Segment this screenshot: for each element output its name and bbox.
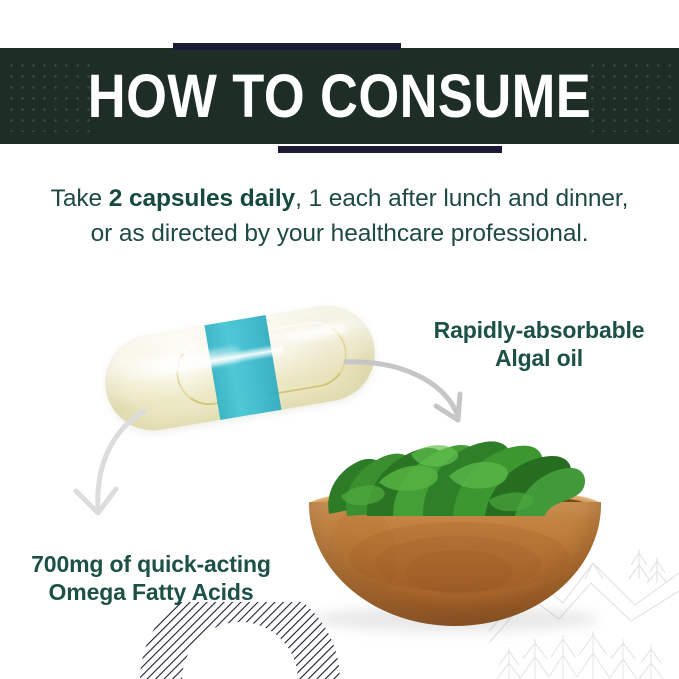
callout-algal-line-2: Algal oil: [408, 344, 670, 372]
capsule-illustration: [96, 282, 384, 448]
intro-suffix: , 1 each after lunch and dinner,: [295, 185, 628, 212]
header-accent-bar-bottom: [278, 146, 502, 153]
seaweed-leaves: [319, 432, 591, 518]
callout-algal-oil: Rapidly-absorbable Algal oil: [408, 316, 670, 372]
callout-omega-line-1: 700mg of quick-acting: [6, 550, 296, 578]
dosage-instructions: Take 2 capsules daily, 1 each after lunc…: [30, 182, 649, 252]
intro-highlight: 2 capsules daily: [109, 185, 295, 212]
callout-algal-line-1: Rapidly-absorbable: [408, 316, 670, 344]
intro-prefix: Take: [51, 185, 109, 212]
softgel-capsule: [98, 298, 382, 438]
callout-omega-line-2: Omega Fatty Acids: [6, 578, 296, 606]
bowl-body: [309, 502, 601, 626]
seaweed-bowl-illustration: [295, 430, 615, 650]
infographic-page: HOW TO CONSUME Take 2 capsules daily, 1 …: [0, 0, 679, 679]
page-title: HOW TO CONSUME: [48, 48, 632, 144]
callout-omega-fatty-acids: 700mg of quick-acting Omega Fatty Acids: [6, 550, 296, 606]
intro-line-2: or as directed by your healthcare profes…: [91, 220, 589, 247]
intro-line-1: Take 2 capsules daily, 1 each after lunc…: [51, 185, 629, 212]
capsule-turquoise-band: [203, 309, 282, 428]
